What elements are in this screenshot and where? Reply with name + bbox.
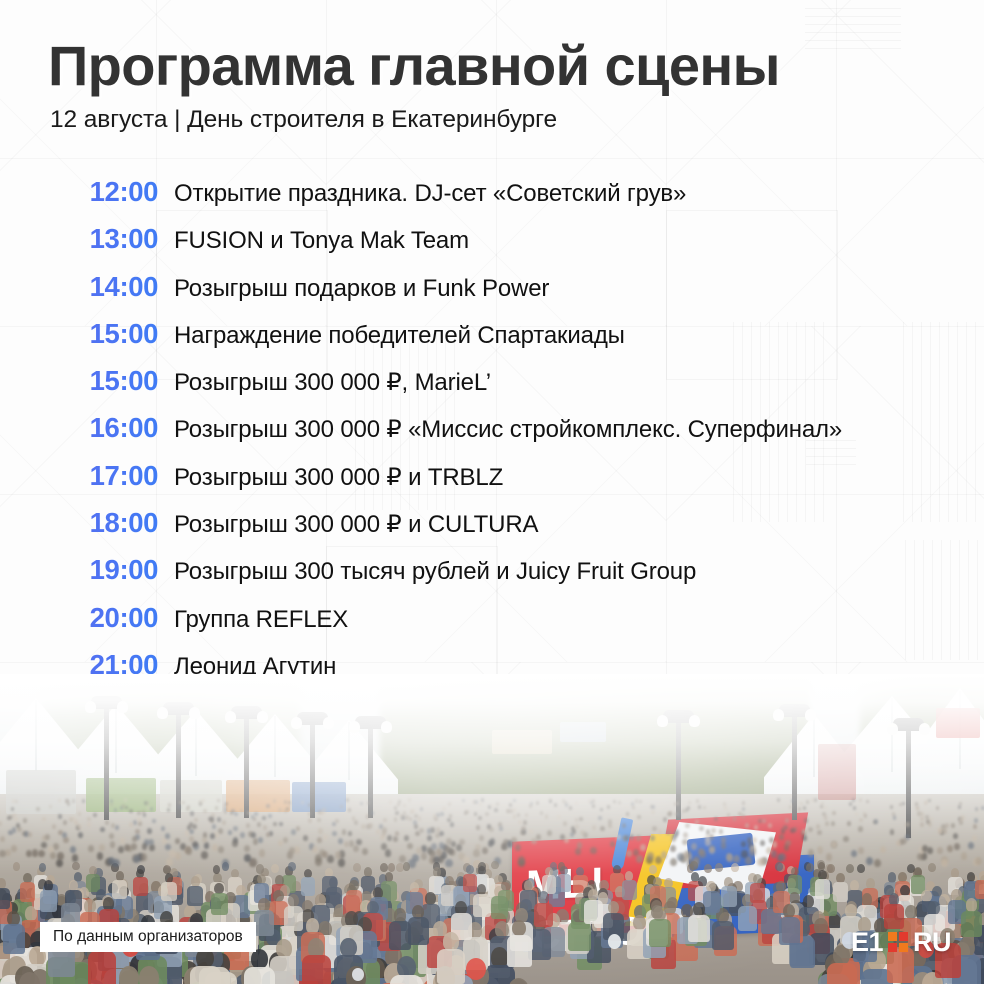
crowd-person-body [322, 876, 337, 895]
crowd-person [958, 805, 961, 809]
crowd-person [666, 830, 671, 836]
crowd-person-body [975, 880, 984, 900]
crowd-person [100, 827, 105, 832]
crowd-person [308, 812, 312, 816]
crowd-person [899, 803, 902, 807]
crowd-person [203, 809, 206, 813]
schedule-row: 15:00Награждение победителей Спартакиады [0, 318, 984, 365]
crowd-person [361, 824, 365, 829]
crowd-person [905, 822, 909, 827]
crowd-person [8, 830, 13, 836]
crowd-person [169, 850, 176, 858]
crowd-person [36, 807, 39, 811]
crowd-person [517, 813, 521, 817]
crowd-person [133, 855, 140, 863]
crowd-person [317, 818, 321, 823]
crowd-person [579, 817, 583, 822]
crowd-person [626, 850, 632, 858]
crowd-person [110, 799, 113, 803]
crowd-person [917, 811, 921, 815]
crowd-person [376, 829, 381, 835]
crowd-person [70, 846, 76, 853]
crowd-person [0, 836, 5, 842]
crowd-person-body [88, 951, 116, 984]
stall [936, 708, 980, 738]
crowd-person [315, 858, 322, 867]
crowd-person [598, 816, 602, 821]
crowd-person [7, 816, 11, 821]
crowd-person-body [884, 904, 903, 929]
crowd-person [525, 813, 529, 817]
crowd-person [633, 915, 646, 931]
crowd-person [491, 804, 494, 808]
crowd-person [874, 859, 881, 868]
crowd-person [745, 823, 749, 828]
crowd-person [515, 844, 521, 851]
schedule-row: 18:00Розыгрыш 300 000 ₽ и CULTURA [0, 507, 984, 554]
crowd-person [202, 837, 207, 843]
crowd-person-body [161, 882, 176, 902]
crowd-person-body [284, 906, 304, 931]
crowd-person [436, 827, 441, 832]
crowd-person [166, 858, 173, 867]
crowd-person [637, 815, 641, 819]
crowd-person [222, 820, 226, 825]
crowd-person [733, 816, 737, 821]
schedule-row: 12:00Открытие праздника. DJ-сет «Советск… [0, 176, 984, 223]
crowd-person [639, 800, 642, 804]
crowd-person [403, 804, 406, 808]
crowd-person [560, 834, 565, 840]
crowd-person [138, 821, 142, 826]
crowd-person [866, 857, 873, 865]
schedule-row: 19:00Розыгрыш 300 тысяч рублей и Juicy F… [0, 554, 984, 601]
crowd-person [187, 805, 190, 809]
crowd-person [234, 812, 238, 816]
crowd-person [762, 819, 766, 824]
crowd-person [348, 808, 351, 812]
crowd-person [475, 800, 478, 804]
schedule-row-event: Розыгрыш 300 000 ₽ и TRBLZ [174, 463, 503, 492]
schedule-row-event: Группа REFLEX [174, 606, 348, 634]
crowd-person [52, 824, 56, 829]
crowd-person-body [688, 915, 709, 942]
crowd-person [13, 813, 17, 817]
crowd-person-body [721, 886, 737, 907]
crowd-person [499, 826, 504, 831]
crowd-person [366, 814, 370, 818]
crowd-person [190, 811, 194, 815]
crowd-person [228, 830, 233, 836]
crowd-person [291, 829, 296, 835]
crowd-person-body [20, 882, 36, 902]
crowd-person [723, 802, 726, 806]
crowd-person [670, 845, 676, 852]
crowd-person [407, 843, 413, 850]
crowd-person [616, 834, 621, 840]
crowd-person [563, 821, 567, 826]
crowd-person [11, 845, 17, 852]
crowd-person [476, 825, 480, 830]
crowd-person [600, 808, 603, 812]
crowd-person [636, 855, 643, 863]
crowd-person [144, 801, 147, 805]
crowd-person [288, 894, 299, 907]
crowd-person [590, 847, 596, 854]
crowd-person [789, 805, 792, 809]
crowd-person [685, 823, 689, 828]
crowd-person-body [463, 874, 477, 892]
crowd-person [192, 824, 196, 829]
crowd-person [210, 833, 215, 839]
crowd-person [50, 852, 57, 860]
crowd-person [443, 932, 459, 950]
crowd-person [915, 802, 918, 806]
crowd-person [222, 862, 230, 871]
crowd-person [831, 841, 837, 848]
crowd-person [696, 799, 699, 803]
crowd-person-body [961, 911, 981, 937]
crowd-person [232, 840, 238, 847]
crowd-person [312, 846, 318, 853]
crowd-person-body [473, 894, 491, 917]
crowd-person [199, 800, 202, 804]
crowd-person [901, 838, 906, 844]
crowd-person [271, 864, 279, 873]
crowd-person [618, 801, 621, 805]
crowd-person [382, 830, 387, 836]
crowd-person [69, 817, 73, 822]
crowd-person [650, 835, 655, 841]
crowd-person [583, 832, 588, 838]
crowd-person [928, 863, 936, 872]
crowd-person-body [833, 882, 848, 902]
crowd-person [131, 843, 137, 850]
crowd-person [651, 805, 654, 809]
crowd-person [798, 807, 801, 811]
crowd-person [224, 807, 227, 811]
crowd-person [394, 806, 397, 810]
crowd-person [831, 821, 835, 826]
crowd-person [262, 816, 266, 821]
crowd-person [635, 799, 638, 803]
crowd-person [15, 800, 18, 804]
schedule-row: 17:00Розыгрыш 300 000 ₽ и TRBLZ [0, 460, 984, 507]
crowd-person [791, 799, 794, 803]
crowd-person [893, 815, 897, 820]
crowd-person [283, 837, 288, 843]
crowd-person [974, 818, 978, 823]
crowd-person [530, 802, 533, 806]
crowd-person [682, 809, 685, 813]
crowd-person [742, 801, 745, 805]
crowd-person [462, 799, 465, 803]
crowd-person [624, 835, 629, 841]
schedule-row-time: 16:00 [0, 412, 158, 444]
crowd-person [880, 846, 886, 853]
e1ru-logo[interactable]: E1 RU [851, 927, 951, 957]
crowd-person [217, 817, 221, 822]
crowd-person [802, 835, 807, 841]
crowd-person [727, 813, 731, 817]
crowd-person [72, 854, 79, 862]
crowd-person [554, 803, 557, 807]
schedule-list: 12:00Открытие праздника. DJ-сет «Советск… [0, 176, 984, 744]
crowd-person [139, 966, 159, 984]
crowd-person [658, 829, 663, 835]
crowd-person [141, 853, 148, 861]
crowd-person [488, 840, 494, 847]
crowd-person [715, 863, 723, 872]
crowd-person [741, 841, 747, 848]
crowd-person [110, 841, 116, 848]
crowd-person [263, 825, 267, 830]
schedule-row-time: 19:00 [0, 554, 158, 586]
crowd-person [937, 847, 943, 854]
crowd-person [240, 832, 245, 838]
crowd-person [129, 809, 132, 813]
crowd-person [575, 848, 581, 855]
schedule-row-event: Розыгрыш 300 000 ₽, MarieL’ [174, 368, 491, 397]
crowd-person [268, 814, 272, 818]
crowd-person [439, 831, 444, 837]
crowd-person [738, 812, 742, 816]
crowd-person [449, 814, 453, 818]
crowd-person [951, 823, 955, 828]
crowd-person [416, 847, 422, 854]
crowd-person [808, 849, 814, 857]
crowd-person [816, 824, 820, 829]
crowd-person [425, 892, 436, 905]
crowd-person [649, 865, 657, 874]
crowd-person [843, 836, 848, 842]
crowd-person [600, 826, 605, 831]
crowd-person-body [498, 890, 515, 912]
crowd-person [124, 798, 127, 802]
crowd-person-body [788, 875, 802, 894]
page-subtitle: 12 августа | День строителя в Екатеринбу… [50, 106, 938, 134]
crowd-person [150, 807, 153, 811]
crowd-person [133, 820, 137, 825]
crowd-person [855, 812, 859, 816]
crowd-person [749, 848, 755, 856]
crowd-person-body [3, 924, 26, 954]
schedule-row-time: 20:00 [0, 602, 158, 634]
logo-text-right: RU [913, 929, 951, 956]
crowd-person [143, 813, 147, 817]
crowd-person [202, 799, 205, 803]
schedule-row-event: Открытие праздника. DJ-сет «Советский гр… [174, 180, 686, 208]
crowd-person [257, 822, 261, 827]
crowd-person [610, 841, 616, 848]
crowd-person [513, 808, 516, 812]
crowd-person [323, 834, 328, 840]
crowd-person [404, 835, 409, 841]
crowd-person [785, 818, 789, 823]
crowd-person [120, 837, 125, 843]
crowd-person [409, 817, 413, 822]
crowd-person [254, 812, 258, 816]
crowd-person [58, 814, 62, 818]
crowd-person [513, 814, 517, 818]
crowd-person [445, 859, 452, 868]
crowd-person [88, 845, 94, 852]
crowd-person [201, 851, 208, 859]
crowd-person [727, 854, 734, 862]
crowd-person [301, 801, 304, 805]
crowd-person [479, 803, 482, 807]
schedule-row-time: 15:00 [0, 318, 158, 350]
crowd-person [240, 809, 243, 813]
crowd-person [39, 863, 47, 872]
crowd-person [147, 828, 152, 834]
crowd-person [244, 845, 250, 852]
crowd-person [41, 842, 47, 849]
crowd-person [49, 805, 52, 809]
crowd-person [930, 817, 934, 822]
crowd-person [11, 807, 14, 811]
crowd-person [961, 852, 968, 860]
crowd-person [864, 814, 868, 818]
crowd-person [338, 838, 343, 844]
crowd-person [529, 829, 534, 835]
crowd-person [481, 798, 484, 802]
crowd-person [640, 844, 646, 851]
crowd-person [572, 829, 577, 835]
crowd-person [518, 820, 522, 825]
crowd-person-body [622, 880, 637, 900]
crowd-person [63, 820, 67, 825]
crowd-person-body [301, 877, 316, 896]
crowd-person-body [244, 967, 275, 984]
crowd-person-body [507, 935, 532, 967]
crowd-person [62, 832, 67, 838]
crowd-person [354, 820, 358, 825]
crowd-person-body [0, 888, 10, 909]
crowd-person [479, 835, 484, 841]
crowd-person [335, 819, 339, 824]
crowd-person [212, 824, 216, 829]
crowd-person [346, 798, 349, 802]
schedule-row: 16:00Розыгрыш 300 000 ₽ «Миссис стройком… [0, 412, 984, 459]
crowd-person [129, 822, 133, 827]
crowd-person [308, 803, 311, 807]
crowd-person [165, 833, 170, 839]
crowd-person [42, 817, 46, 822]
crowd-person [225, 802, 228, 806]
crowd-person [482, 847, 488, 854]
crowd-person [368, 823, 372, 828]
crowd-person [65, 799, 68, 803]
crowd-person [109, 833, 114, 839]
crowd-person [233, 826, 238, 831]
crowd-person [973, 824, 977, 829]
crowd-person [353, 863, 361, 872]
crowd-person [273, 799, 276, 803]
crowd-person [688, 801, 691, 805]
crowd-person [0, 850, 6, 858]
crowd-person [667, 812, 671, 816]
schedule-row-time: 14:00 [0, 271, 158, 303]
crowd-person [403, 811, 407, 815]
crowd-person [721, 842, 727, 849]
crowd-person [474, 812, 478, 816]
crowd-person [450, 822, 454, 827]
crowd-person [975, 857, 982, 865]
crowd-person [182, 801, 185, 805]
crowd-person-body [779, 917, 801, 945]
crowd-person [433, 814, 437, 818]
stall [492, 730, 552, 754]
crowd-person [421, 852, 428, 860]
crowd-person-body [568, 922, 591, 951]
crowd-person [509, 803, 512, 807]
crowd-person [629, 834, 634, 840]
crowd-person [414, 824, 418, 829]
crowd-person [57, 852, 64, 860]
crowd-person-body [302, 955, 331, 984]
crowd-person [38, 850, 45, 858]
crowd-person [114, 808, 117, 812]
crowd-person [87, 822, 91, 827]
crowd-person [826, 853, 833, 861]
crowd-person [817, 846, 823, 853]
crowd-person [185, 830, 190, 836]
crowd-person [23, 818, 27, 823]
crowd-person-body [750, 883, 766, 903]
crowd-person [592, 825, 596, 830]
crowd-person [436, 848, 442, 855]
crowd-person [332, 831, 337, 837]
crowd-person [161, 826, 166, 831]
crowd-person [78, 832, 83, 838]
crowd-person [273, 890, 284, 902]
crowd-person [137, 817, 141, 822]
crowd-person [218, 828, 223, 834]
crowd-person [928, 799, 931, 803]
crowd-layer [0, 792, 984, 984]
crowd-person-body [649, 919, 671, 947]
crowd-person [124, 844, 130, 851]
crowd-person-body [437, 949, 465, 984]
crowd-person [800, 802, 803, 806]
crowd-person [251, 832, 256, 838]
balloon [608, 934, 621, 949]
crowd-person-body [390, 975, 423, 984]
crowd-person [804, 818, 808, 823]
crowd-person [670, 858, 677, 867]
crowd-person [916, 806, 919, 810]
crowd-person-body [815, 879, 830, 898]
crowd-person [318, 828, 323, 834]
stall [560, 722, 606, 742]
crowd-person [99, 844, 105, 851]
crowd-person [321, 811, 325, 815]
schedule-row-event: Розыгрыш подарков и Funk Power [174, 275, 549, 303]
crowd-person [308, 818, 312, 823]
crowd-person [218, 846, 224, 853]
crowd-person [478, 862, 486, 871]
crowd-person [784, 844, 790, 851]
crowd-person [385, 849, 391, 857]
crowd-person [284, 800, 287, 804]
crowd-person [82, 799, 85, 803]
crowd-person [711, 828, 716, 834]
crowd-person [397, 803, 400, 807]
crowd-person [858, 826, 863, 831]
schedule-row: 20:00Группа REFLEX [0, 602, 984, 649]
crowd-person [721, 837, 726, 843]
